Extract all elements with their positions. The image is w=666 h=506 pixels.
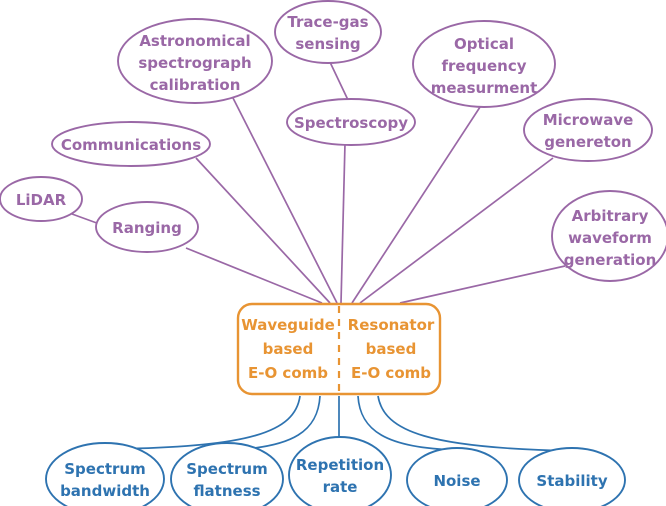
node-ranging[interactable]: Ranging [96,202,198,252]
node-stability[interactable]: Stability [519,448,625,506]
node-spectroscopy-ellipse[interactable] [287,99,415,145]
node-ranging-ellipse[interactable] [96,202,198,252]
center-node[interactable]: Waveguide based E-O comb Resonator based… [238,304,440,394]
node-spectroscopy[interactable]: Spectroscopy [287,99,415,145]
link-ranging-center [186,248,322,303]
node-spectrum-bandwidth-ellipse[interactable] [46,443,164,506]
node-arbitrary-waveform[interactable]: Arbitrary waveform generation [552,191,666,281]
node-trace-gas-ellipse[interactable] [275,1,381,63]
link-tracegas-spectroscopy [329,60,348,100]
node-microwave[interactable]: Microwave genereton [524,99,652,161]
node-lidar[interactable]: LiDAR [0,177,82,221]
link-center-noise [358,396,457,450]
node-microwave-ellipse[interactable] [524,99,652,161]
node-optical-frequency[interactable]: Optical frequency measurment [413,21,555,107]
mindmap-svg: Waveguide based E-O comb Resonator based… [0,0,666,506]
node-lidar-ellipse[interactable] [0,177,82,221]
node-spectrum-bandwidth[interactable]: Spectrum bandwidth [46,443,164,506]
node-communications[interactable]: Communications [52,122,210,166]
node-repetition-rate-ellipse[interactable] [289,437,391,506]
node-repetition-rate[interactable]: Repetition rate [289,437,391,506]
node-astronomical[interactable]: Astronomical spectrograph calibration [118,19,272,103]
node-noise-ellipse[interactable] [407,448,507,506]
link-center-spectrum-flatness [227,396,320,450]
link-center-stability [378,396,572,451]
node-spectrum-flatness[interactable]: Spectrum flatness [171,443,283,506]
node-arbitrary-waveform-ellipse[interactable] [552,191,666,281]
node-trace-gas[interactable]: Trace-gas sensing [275,1,381,63]
node-spectrum-flatness-ellipse[interactable] [171,443,283,506]
node-stability-ellipse[interactable] [519,448,625,506]
node-communications-ellipse[interactable] [52,122,210,166]
diagram-canvas: Waveguide based E-O comb Resonator based… [0,0,666,506]
node-optical-frequency-ellipse[interactable] [413,21,555,107]
link-communications-center [196,158,330,303]
link-microwave-center [360,158,553,303]
link-spectroscopy-center [341,143,345,303]
link-center-spectrum-bandwidth [105,396,300,449]
node-astronomical-ellipse[interactable] [118,19,272,103]
link-arbitrary-center [400,266,565,303]
node-noise[interactable]: Noise [407,448,507,506]
